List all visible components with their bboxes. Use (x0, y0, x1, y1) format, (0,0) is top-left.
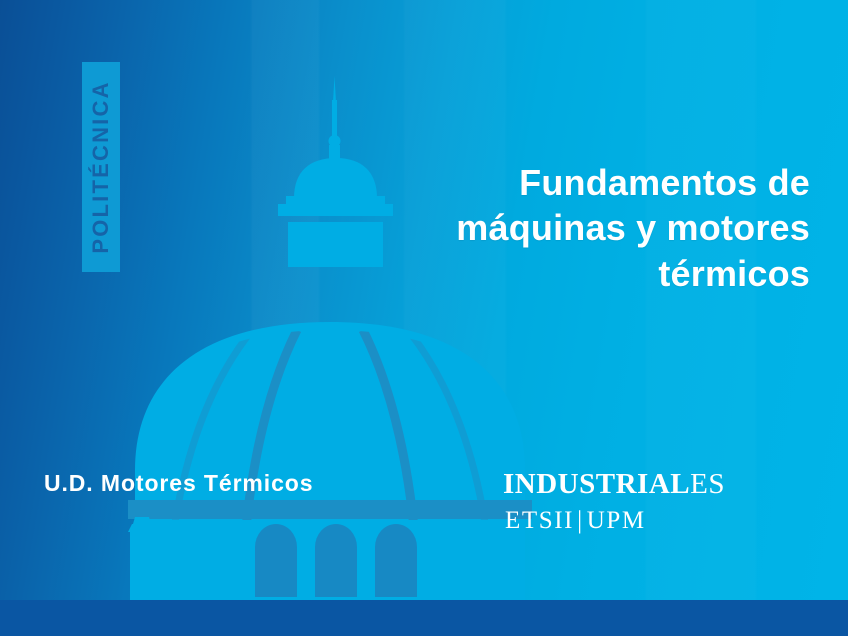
industriales-logo-light: ES (690, 468, 725, 500)
slide-title-line-3: térmicos (340, 251, 810, 296)
industriales-logo-divider: | (574, 507, 587, 534)
industriales-logo-etsii: ETSII (505, 507, 574, 534)
industriales-logo-subline: ETSII|UPM (503, 508, 725, 533)
slide-title-line-2: máquinas y motores (340, 205, 810, 250)
lantern-needle (333, 76, 336, 102)
dome-arched-windows (255, 524, 417, 597)
upm-dome-watermark (0, 0, 848, 636)
dome-illustration (0, 0, 848, 636)
dome-column-capital (128, 517, 156, 612)
industriales-logo-upm: UPM (587, 507, 646, 534)
industriales-logo-wordmark: INDUSTRIALES (503, 470, 725, 499)
slide-subtitle: U.D. Motores Térmicos (44, 470, 313, 497)
presentation-title-slide: POLITÉCNICA Fundamentos de máquinas y mo… (0, 0, 848, 636)
politecnica-tag-label: POLITÉCNICA (82, 62, 120, 272)
industriales-logo: INDUSTRIALES ETSII|UPM (503, 470, 725, 533)
industriales-logo-strong: INDUSTRIAL (503, 468, 690, 500)
lantern-spire (332, 100, 337, 142)
footer-bar (0, 600, 848, 636)
slide-title-line-1: Fundamentos de (340, 160, 810, 205)
slide-title: Fundamentos de máquinas y motores térmic… (340, 160, 810, 296)
dome-cornice-band (128, 500, 532, 519)
lantern-neck (329, 145, 340, 161)
politecnica-tag: POLITÉCNICA (82, 62, 120, 272)
